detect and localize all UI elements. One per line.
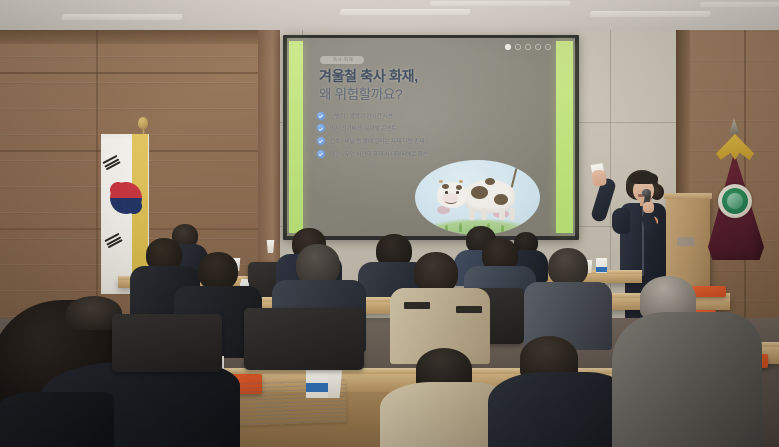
slide-bullet-item: 건초 · 비닐 등 불에 잘타는 자재 다량 존재 bbox=[317, 135, 527, 147]
jacket-strap bbox=[456, 306, 482, 313]
slide-bullet-item: 야간 · 무인 시간대 화재 시 대형피해로 확산 bbox=[317, 148, 527, 160]
foreground-attendee-jacket bbox=[488, 372, 628, 447]
left-wall-trim bbox=[0, 30, 284, 44]
wall-panel-seam bbox=[96, 30, 98, 330]
presenter-bangs bbox=[630, 172, 658, 184]
slide-accent-band-left bbox=[289, 41, 303, 233]
pagination-dot bbox=[545, 44, 551, 50]
chair-back bbox=[244, 308, 364, 370]
check-circle-icon bbox=[317, 112, 325, 120]
microphone-head bbox=[642, 189, 651, 197]
taeguk-red-lobe bbox=[110, 182, 126, 198]
foreground-attendee-shoulder bbox=[0, 392, 114, 447]
slide-bullet-list: 난방기 · 열풍기 장시간 사용 임시 전기배선, 문어발 콘센트 건초 · 비… bbox=[317, 110, 527, 161]
check-circle-icon bbox=[317, 124, 325, 132]
slide-bullet-item: 임시 전기배선, 문어발 콘센트 bbox=[317, 123, 527, 135]
chair-back bbox=[112, 314, 222, 372]
wall-panel-seam bbox=[0, 72, 284, 74]
slide-bullet-label: 건초 · 비닐 등 불에 잘타는 자재 다량 존재 bbox=[330, 137, 424, 145]
pagination-dot bbox=[525, 44, 531, 50]
cow-smile bbox=[445, 198, 457, 204]
audience-head bbox=[548, 248, 588, 286]
milk-carton bbox=[306, 366, 328, 398]
recessed-linear-light bbox=[699, 2, 779, 7]
seminar-room-photo: 축사 화재 겨울철 축사 화재, 왜 위험할까요? 난방기 · 열풍기 장시간 … bbox=[0, 0, 779, 447]
check-circle-icon bbox=[317, 137, 325, 145]
pagination-dot bbox=[535, 44, 541, 50]
recessed-linear-light bbox=[589, 11, 711, 17]
slide-accent-band-right bbox=[556, 41, 573, 233]
cartoon-cow-illustration bbox=[415, 160, 540, 235]
milk-carton-band bbox=[306, 383, 328, 392]
cow-tail bbox=[511, 168, 518, 188]
recessed-linear-light bbox=[339, 9, 471, 15]
check-circle-icon bbox=[317, 150, 325, 158]
presenter-hand bbox=[643, 202, 654, 213]
recessed-linear-light bbox=[61, 14, 183, 20]
taeguk-blue-lobe bbox=[126, 198, 142, 214]
presenter-shoulder bbox=[612, 208, 630, 234]
bottle-cap bbox=[241, 279, 248, 283]
slide-badge-label: 축사 화재 bbox=[323, 56, 363, 64]
slide-bullet-label: 난방기 · 열풍기 장시간 사용 bbox=[330, 112, 393, 120]
orange-box bbox=[692, 286, 726, 297]
milk-carton-band bbox=[596, 267, 607, 272]
slide-bullet-label: 야간 · 무인 시간대 화재 시 대형피해로 확산 bbox=[330, 150, 428, 158]
milk-carton bbox=[596, 258, 607, 273]
presenter-pointing-hand bbox=[591, 169, 607, 187]
pagination-dot-active bbox=[505, 44, 511, 50]
pagination-dot bbox=[515, 44, 521, 50]
lectern-label bbox=[677, 237, 695, 246]
slide-bullet-label: 임시 전기배선, 문어발 콘센트 bbox=[330, 124, 396, 132]
audience-head bbox=[198, 252, 238, 290]
slide-bullet-item: 난방기 · 열풍기 장시간 사용 bbox=[317, 110, 527, 122]
slide-pagination bbox=[505, 44, 551, 50]
flag-pole-finial-icon bbox=[138, 117, 148, 129]
slide-title-line2: 왜 위험할까요? bbox=[319, 83, 509, 103]
lectern-top bbox=[664, 193, 712, 199]
organization-emblem-glyph bbox=[727, 193, 743, 209]
foreground-attendee-jacket bbox=[612, 312, 762, 447]
jacket-strap bbox=[404, 302, 430, 309]
recessed-linear-light bbox=[429, 1, 570, 6]
